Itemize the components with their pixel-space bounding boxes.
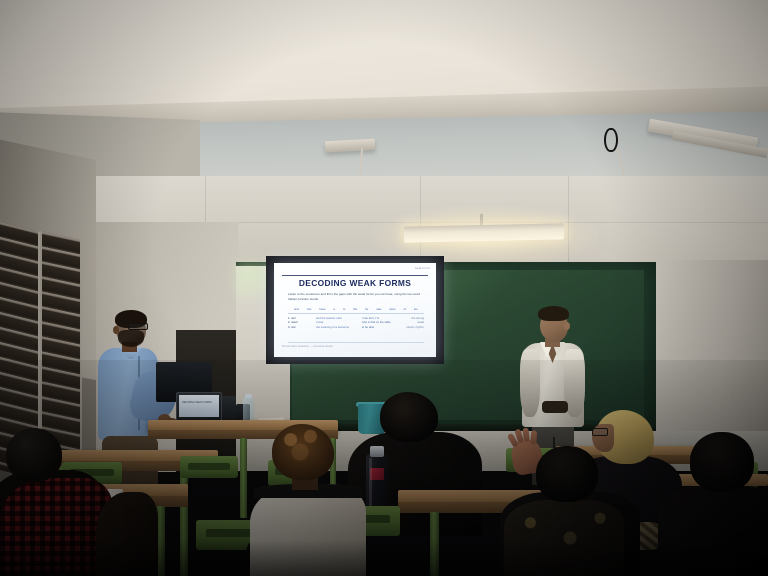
- chair: [180, 456, 238, 478]
- chair-slot: [188, 463, 230, 470]
- slide-word: are: [414, 307, 418, 311]
- attendee-patterned-dress-head: [536, 446, 598, 502]
- slide-word: of: [404, 307, 406, 311]
- ear: [564, 322, 570, 330]
- fluorescent-light-fixture: [404, 223, 564, 242]
- slide-word: to: [343, 307, 345, 311]
- slide-word: the: [353, 307, 357, 311]
- slide-content: weak forms DECODING WEAK FORMS Listen to…: [274, 263, 436, 357]
- glasses-icon: [592, 428, 608, 436]
- slide-table-cell: stress, rhythm: [401, 325, 424, 329]
- laptop-screen-text: DECODING WEAK FORMS: [182, 401, 216, 404]
- desk-leg: [430, 512, 439, 576]
- slide-top-rule: [282, 275, 428, 276]
- slide-word: and: [294, 307, 299, 311]
- slide-word: have: [319, 307, 325, 311]
- slide-footer: Pronunciation workshop — connected speec…: [282, 345, 432, 348]
- slide-rule-bottom: [288, 342, 424, 343]
- attendee-checkered-arm: [96, 492, 158, 576]
- slide-table-cell: the meaning of a sentence: [316, 325, 361, 329]
- slide-title: DECODING WEAK FORMS: [274, 278, 436, 288]
- slide-table: 1. /ən/and the teacher saidI can do it, …: [288, 316, 424, 329]
- slide-word: can: [307, 307, 312, 311]
- slide-meta-label: weak forms: [386, 267, 430, 270]
- attendee-right-edge-head: [690, 432, 754, 492]
- desk-leg: [240, 438, 247, 518]
- slide-table-cell: to be able: [362, 325, 400, 329]
- classroom-photo: weak forms DECODING WEAK FORMS Listen to…: [0, 0, 768, 576]
- presenter-right-arm-left: [520, 349, 540, 417]
- attendee-dark-shirt-head: [380, 392, 438, 442]
- slide-word-row: andcanhaveatotheforwaswereofare: [294, 307, 418, 311]
- slide-word: for: [365, 307, 368, 311]
- slide-word: were: [389, 307, 395, 311]
- laptop-display: DECODING WEAK FORMS: [179, 395, 219, 417]
- attendee-right-edge-body: [658, 486, 768, 576]
- slide-rule-top: [288, 313, 424, 314]
- right-wall: [656, 260, 768, 440]
- bottle-cap: [370, 446, 384, 457]
- finger: [530, 430, 537, 444]
- presenter-right-hands: [542, 401, 568, 413]
- slide-table-row: 3. /əv/the meaning of a sentenceto be ab…: [288, 325, 424, 329]
- bottle-label: [370, 468, 384, 480]
- slide-body-text: Listen to the sentences and fill in the …: [288, 292, 424, 301]
- slide-table-cell: 3. /əv/: [288, 325, 315, 329]
- slide-word: a: [333, 307, 335, 311]
- attendee-curly-hair-head: [272, 424, 334, 480]
- glasses-icon: [128, 323, 148, 330]
- bottle-highlight: [369, 458, 372, 512]
- ear: [113, 326, 119, 334]
- slide-word: was: [376, 307, 381, 311]
- attendee-patterned-dress: [504, 500, 624, 576]
- attendee-checkered-head: [6, 428, 62, 482]
- beard: [118, 330, 144, 347]
- hair: [538, 306, 569, 321]
